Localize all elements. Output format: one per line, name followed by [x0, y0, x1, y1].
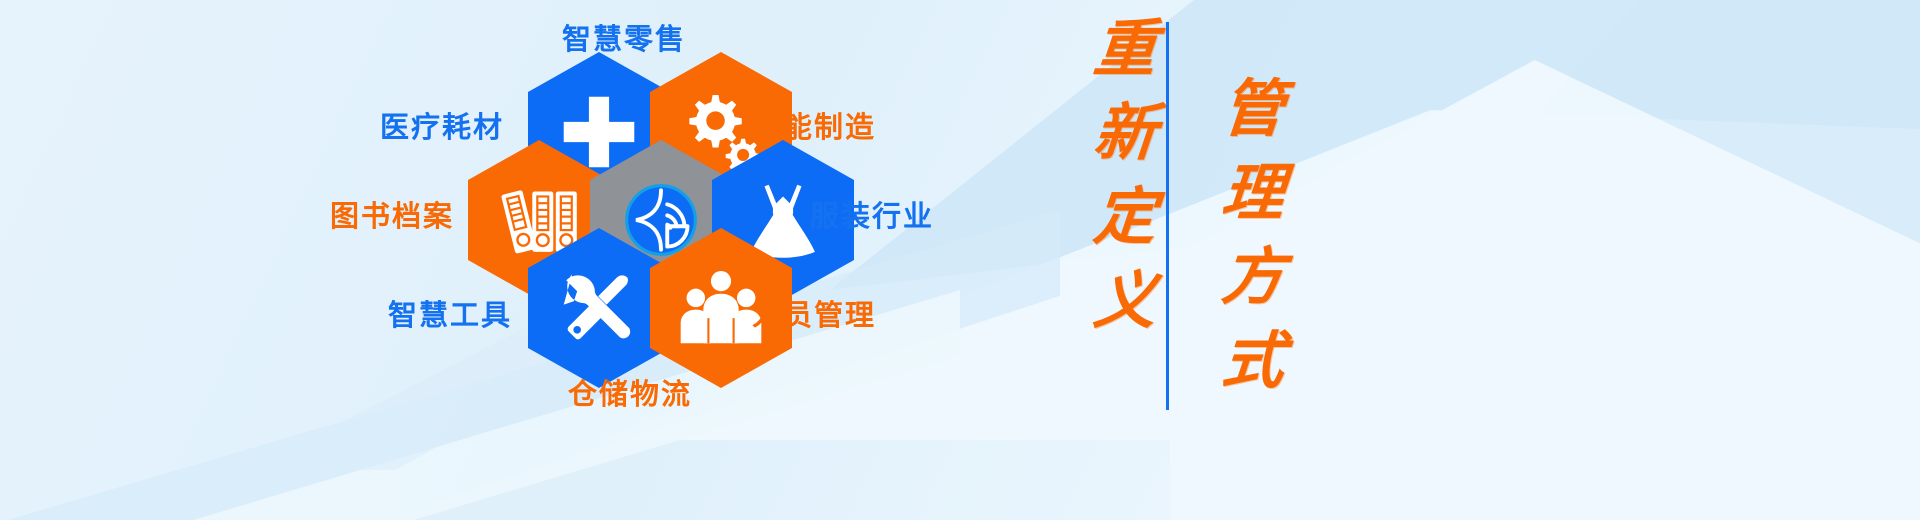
people-group-icon	[679, 266, 763, 350]
calligraphy-char-7: 方	[1219, 246, 1286, 308]
calligraphy-char-8: 式	[1219, 330, 1286, 392]
calligraphy-char-6: 理	[1219, 162, 1286, 224]
label-logistics: 仓储物流	[568, 371, 692, 413]
label-manufacturing: 智能制造	[752, 104, 876, 146]
label-apparel: 服装行业	[810, 193, 934, 235]
label-retail: 智慧零售	[562, 16, 686, 58]
calligraphy-char-1: 重	[1091, 18, 1158, 80]
label-medical: 医疗耗材	[380, 104, 504, 146]
calligraphy-char-5: 管	[1219, 78, 1286, 140]
calligraphy-left-column: 重 新 定 义	[1070, 18, 1180, 332]
label-tools: 智慧工具	[388, 292, 512, 334]
calligraphy-panel: 重 新 定 义 管 理 方 式	[1040, 0, 1460, 520]
calligraphy-char-2: 新	[1091, 102, 1158, 164]
label-staff: 人员管理	[752, 292, 876, 334]
calligraphy-char-3: 定	[1091, 186, 1158, 248]
tools-icon	[557, 266, 641, 350]
label-books: 图书档案	[330, 193, 454, 235]
calligraphy-char-4: 义	[1091, 270, 1158, 332]
calligraphy-right-column: 管 理 方 式	[1198, 78, 1308, 392]
calligraphy-divider	[1166, 22, 1169, 410]
hexagon-cluster	[470, 52, 800, 392]
promo-banner: 智慧零售 医疗耗材 智能制造 图书档案 服装行业 智慧工具 人员管理 仓储物流 …	[0, 0, 1920, 520]
